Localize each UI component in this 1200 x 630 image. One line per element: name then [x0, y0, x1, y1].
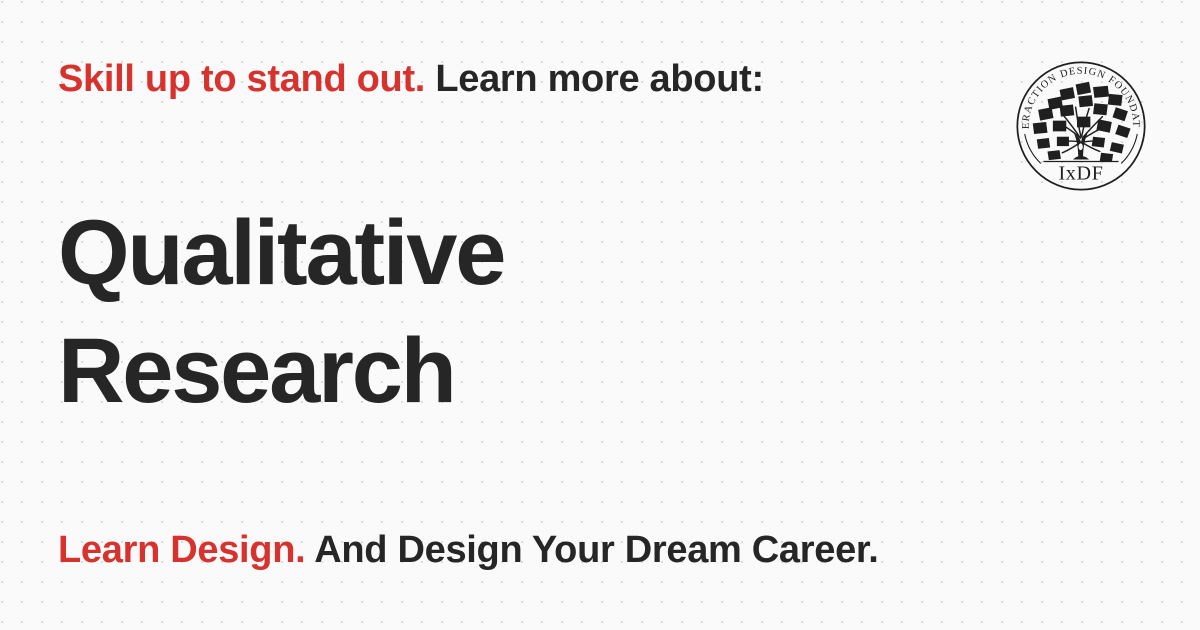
- headline-line-2: Research: [58, 312, 938, 430]
- tagline-line: Learn Design. And Design Your Dream Care…: [58, 528, 879, 572]
- social-share-card: Skill up to stand out. Learn more about:…: [0, 0, 1200, 630]
- ixdf-seal-icon: INTERACTION DESIGN FOUNDATION: [1014, 59, 1148, 193]
- page-title: Qualitative Research: [58, 194, 938, 430]
- tagline-spacer: [305, 529, 314, 571]
- kicker-neutral-label: Learn more about:: [435, 58, 764, 100]
- logo-tree-emblem: [1033, 82, 1131, 162]
- logo-wordmark: IxDF: [1058, 163, 1103, 185]
- tagline-neutral-text: And Design Your Dream Career.: [314, 529, 878, 571]
- ixdf-logo: INTERACTION DESIGN FOUNDATION: [1014, 59, 1148, 193]
- logo-trunk-hollow: [1079, 143, 1083, 150]
- headline-line-1: Qualitative: [58, 194, 938, 312]
- kicker-neutral-text: [425, 58, 435, 100]
- logo-tree-root: [1073, 156, 1089, 159]
- kicker-line: Skill up to stand out. Learn more about:: [58, 57, 764, 101]
- card-content: Skill up to stand out. Learn more about:…: [0, 0, 1200, 630]
- kicker-accent-text: Skill up to stand out.: [58, 58, 425, 100]
- tagline-accent-text: Learn Design.: [58, 529, 305, 571]
